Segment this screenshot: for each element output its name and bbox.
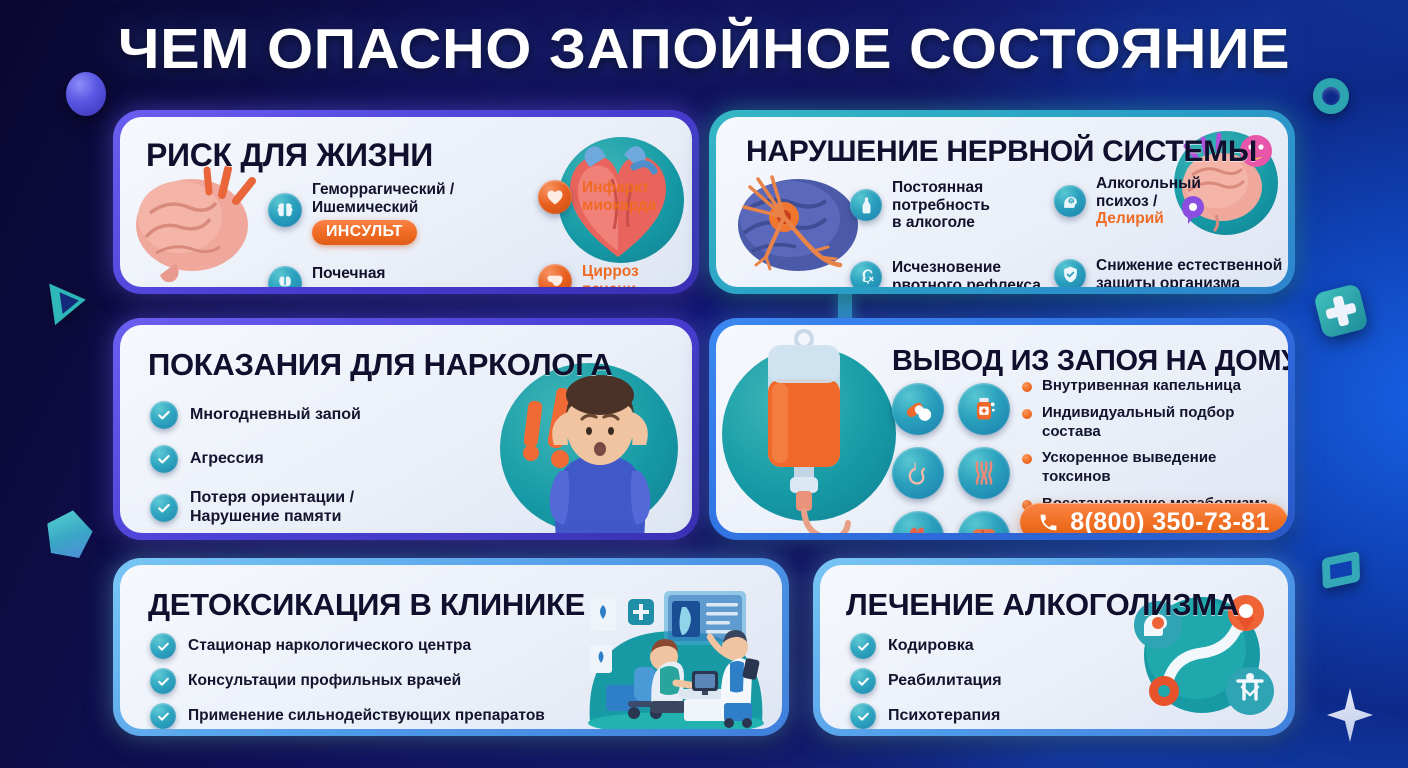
ring-shape bbox=[1313, 78, 1349, 114]
infographic-poster: ЧЕМ ОПАСНО ЗАПОЙНОЕ СОСТОЯНИЕ bbox=[0, 0, 1408, 768]
risk-item-infarct-line2: миокарда bbox=[582, 197, 656, 215]
nervous-item-immunity-line2: защиты организма bbox=[1096, 275, 1282, 287]
check-icon bbox=[850, 703, 876, 729]
check-icon bbox=[150, 445, 178, 473]
list-item-label: Применение сильнодействующих препаратов bbox=[188, 707, 545, 725]
home-detox-icon-grid bbox=[892, 383, 1010, 533]
card-home-detox: ВЫВОД ИЗ ЗАПОЯ НА ДОМУ bbox=[709, 318, 1295, 540]
liver-icon bbox=[958, 511, 1010, 533]
list-item-label-line2: Нарушение памяти bbox=[190, 508, 354, 527]
nervous-item-immunity: Снижение естественной защиты организма bbox=[1054, 257, 1282, 287]
list-item: Агрессия bbox=[150, 445, 455, 473]
risk-item-stroke: Геморрагический / Ишемический ИНСУЛЬТ bbox=[268, 181, 454, 245]
stressed-man-backdrop bbox=[500, 363, 678, 533]
list-item-label: Кодировка bbox=[888, 637, 974, 656]
list-item: Потеря ориентации / Нарушение памяти bbox=[150, 489, 455, 527]
list-item-label: Индивидуальный подбор состава bbox=[1042, 404, 1288, 442]
medicine-bottle-icon bbox=[958, 383, 1010, 435]
list-item: Внутривенная капельница bbox=[1022, 377, 1288, 396]
card-title-treatment: ЛЕЧЕНИЕ АЛКОГОЛИЗМА bbox=[846, 587, 1239, 623]
card-risk: РИСК ДЛЯ ЖИЗНИ Геморрагический / Ишемиче… bbox=[113, 110, 699, 294]
iv-drip-backdrop bbox=[722, 347, 896, 521]
nervous-item-immunity-line1: Снижение естественной bbox=[1096, 257, 1282, 275]
risk-item-cirrhosis-line2: печени bbox=[582, 281, 639, 287]
card-title-nervous: НАРУШЕНИЕ НЕРВНОЙ СИСТЕМЫ bbox=[746, 135, 1257, 169]
bullet-dot-icon bbox=[1022, 382, 1032, 392]
risk-item-infarct: Инфаркт миокарда bbox=[538, 179, 656, 214]
risk-item-kidneys-line2: недостаточность bbox=[312, 283, 444, 287]
nervous-item-psychosis-line3: Делирий bbox=[1096, 210, 1201, 228]
card-treatment: ЛЕЧЕНИЕ АЛКОГОЛИЗМА Кодировка Реабилитац… bbox=[813, 558, 1295, 736]
list-item: Кодировка bbox=[850, 633, 1029, 659]
intestines-icon bbox=[958, 447, 1010, 499]
risk-item-stroke-line2: Ишемический bbox=[312, 199, 454, 217]
phone-icon bbox=[1038, 512, 1059, 533]
list-item-label: Внутривенная капельница bbox=[1042, 377, 1241, 396]
list-item: Индивидуальный подбор состава bbox=[1022, 404, 1288, 442]
list-item-label: Реабилитация bbox=[888, 672, 1002, 691]
card-title-clinic-detox: ДЕТОКСИКАЦИЯ В КЛИНИКЕ bbox=[148, 587, 585, 623]
medical-cross-shape bbox=[1313, 283, 1369, 339]
card-narcologist: ПОКАЗАНИЯ ДЛЯ НАРКОЛОГА Многодневный зап… bbox=[113, 318, 699, 540]
check-icon bbox=[850, 633, 876, 659]
nervous-item-vomit-line1: Исчезновение bbox=[892, 259, 1041, 277]
check-icon bbox=[150, 494, 178, 522]
nervous-item-craving: Постоянная потребность в алкоголе bbox=[850, 179, 990, 232]
list-item: Реабилитация bbox=[850, 668, 1029, 694]
card-title-home-detox: ВЫВОД ИЗ ЗАПОЯ НА ДОМУ bbox=[892, 345, 1288, 378]
square-outline-shape bbox=[1322, 551, 1360, 589]
card-nervous-system: НАРУШЕНИЕ НЕРВНОЙ СИСТЕМЫ Постоянная пот… bbox=[709, 110, 1295, 294]
clinic-detox-list: Стационар наркологического центра Консул… bbox=[150, 633, 545, 729]
list-item: Консультации профильных врачей bbox=[150, 668, 545, 694]
triangle-shape bbox=[49, 279, 89, 325]
check-icon bbox=[150, 401, 178, 429]
kidneys-icon bbox=[892, 511, 944, 533]
stomach-icon bbox=[892, 447, 944, 499]
list-item-label: Потеря ориентации / bbox=[190, 489, 354, 508]
nervous-item-craving-line3: в алкоголе bbox=[892, 214, 990, 232]
bullet-dot-icon bbox=[1022, 409, 1032, 419]
bottle-icon bbox=[850, 189, 882, 221]
clinic-scene-illustration bbox=[572, 573, 778, 729]
risk-item-infarct-line1: Инфаркт bbox=[582, 179, 656, 197]
nervous-item-psychosis-line2: психоз / bbox=[1096, 193, 1201, 211]
nervous-item-psychosis-line1: Алкогольный bbox=[1096, 175, 1201, 193]
nervous-item-craving-line1: Постоянная bbox=[892, 179, 990, 197]
heart-icon bbox=[538, 180, 572, 214]
list-item: Применение сильнодействующих препаратов bbox=[150, 703, 545, 729]
card-title-risk: РИСК ДЛЯ ЖИЗНИ bbox=[146, 137, 433, 174]
stroke-badge: ИНСУЛЬТ bbox=[312, 220, 417, 245]
phone-button[interactable]: 8(800) 350-73-81 bbox=[1020, 503, 1288, 533]
check-icon bbox=[150, 703, 176, 729]
risk-item-kidneys: Почечная недостаточность bbox=[268, 265, 444, 287]
list-item: Ускоренное выведение токсинов bbox=[1022, 449, 1288, 487]
card-clinic-detox: ДЕТОКСИКАЦИЯ В КЛИНИКЕ Стационар нарколо… bbox=[113, 558, 789, 736]
check-icon bbox=[150, 668, 176, 694]
bullet-dot-icon bbox=[1022, 454, 1032, 464]
liver-icon bbox=[538, 264, 572, 287]
nervous-item-vomit-reflex: Исчезновение рвотного рефлекса bbox=[850, 259, 1041, 287]
list-item-label: Стационар наркологического центра bbox=[188, 637, 471, 655]
star-shape bbox=[1327, 688, 1373, 742]
list-item: Психотерапия bbox=[850, 703, 1029, 729]
check-icon bbox=[850, 668, 876, 694]
nervous-item-psychosis: Алкогольный психоз / Делирий bbox=[1054, 175, 1201, 228]
kidneys-icon bbox=[268, 266, 302, 287]
nervous-item-craving-line2: потребность bbox=[892, 197, 990, 215]
risk-item-stroke-line1: Геморрагический / bbox=[312, 181, 454, 199]
brain-icon bbox=[268, 193, 302, 227]
shield-check-icon bbox=[1054, 259, 1086, 287]
sphere-shape bbox=[66, 72, 106, 116]
pills-icon bbox=[892, 383, 944, 435]
risk-item-cirrhosis-line1: Цирроз bbox=[582, 263, 639, 281]
check-icon bbox=[150, 633, 176, 659]
list-item-label: Консультации профильных врачей bbox=[188, 672, 461, 690]
page-title: ЧЕМ ОПАСНО ЗАПОЙНОЕ СОСТОЯНИЕ bbox=[0, 20, 1408, 78]
pentagon-shape bbox=[42, 506, 95, 559]
list-item-label: Психотерапия bbox=[888, 707, 1000, 726]
phone-number: 8(800) 350-73-81 bbox=[1070, 508, 1270, 534]
narcologist-list: Многодневный запой Агрессия Потеря ориен… bbox=[150, 401, 455, 533]
list-item: Многодневный запой bbox=[150, 401, 455, 429]
list-item-label: Агрессия bbox=[190, 450, 264, 469]
list-item: Стационар наркологического центра bbox=[150, 633, 545, 659]
risk-item-cirrhosis: Цирроз печени bbox=[538, 263, 639, 287]
nervous-item-vomit-line2: рвотного рефлекса bbox=[892, 277, 1041, 287]
card-title-narcologist: ПОКАЗАНИЯ ДЛЯ НАРКОЛОГА bbox=[148, 347, 613, 383]
list-item-label: Ускоренное выведение токсинов bbox=[1042, 449, 1288, 487]
treatment-list: Кодировка Реабилитация Психотерапия bbox=[850, 633, 1029, 729]
head-brain-icon bbox=[1054, 185, 1086, 217]
list-item-label: Многодневный запой bbox=[190, 406, 361, 425]
risk-item-kidneys-line1: Почечная bbox=[312, 265, 444, 283]
vomit-reflex-icon bbox=[850, 261, 882, 287]
